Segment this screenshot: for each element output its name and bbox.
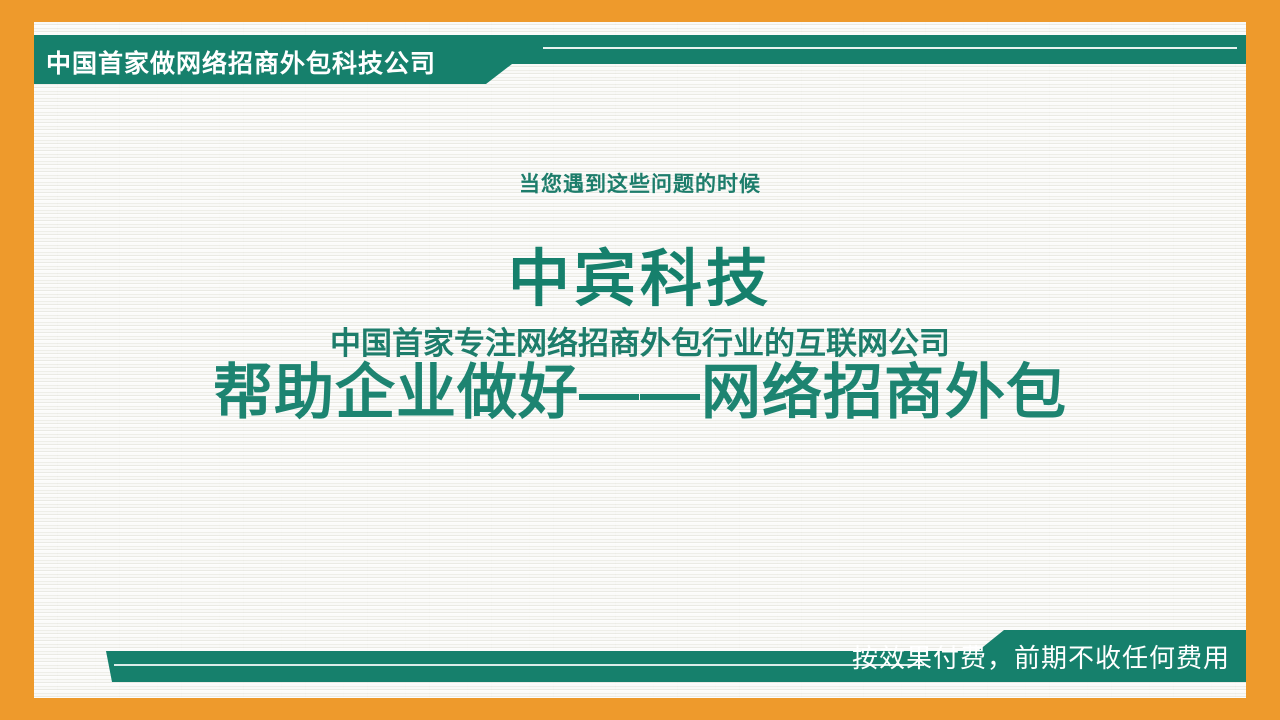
header-rule [543,47,1237,49]
header-title: 中国首家做网络招商外包科技公司 [46,44,436,84]
brand-name: 中宾科技 [34,247,1246,312]
main-headline: 帮助企业做好——网络招商外包 [34,360,1246,426]
eyebrow-text: 当您遇到这些问题的时候 [34,168,1246,198]
company-tagline: 中国首家专注网络招商外包行业的互联网公司 [34,318,1246,363]
footer-rule [114,664,924,666]
footer-text: 按效果付费，前期不收任何费用 [852,640,1230,676]
presentation-slide: 中国首家做网络招商外包科技公司 当您遇到这些问题的时候 中宾科技 中国首家专注网… [0,0,1280,720]
slide-canvas: 中国首家做网络招商外包科技公司 当您遇到这些问题的时候 中宾科技 中国首家专注网… [34,22,1246,698]
